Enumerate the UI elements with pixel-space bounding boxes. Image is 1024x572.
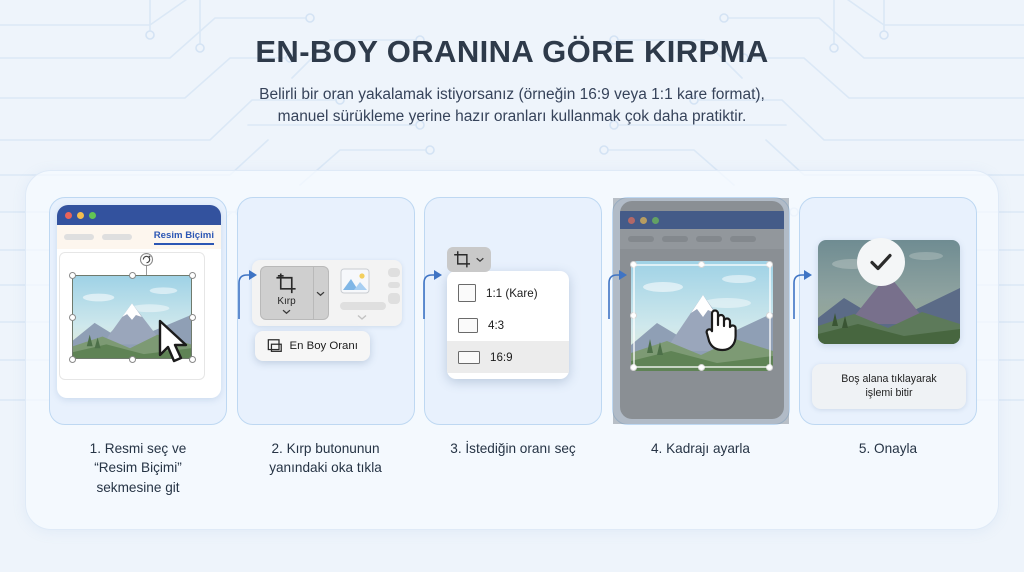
- crop-dropdown-arrow-button[interactable]: [314, 266, 329, 320]
- page-header: EN-BOY ORANINA GÖRE KIRPMA Belirli bir o…: [0, 0, 1024, 129]
- menu-item-ratio-16-9[interactable]: 16:9: [447, 341, 569, 373]
- page-title: EN-BOY ORANINA GÖRE KIRPMA: [0, 34, 1024, 70]
- steps-row: Resim Biçimi: [26, 171, 1000, 531]
- ratio-preview-icon: [458, 351, 480, 364]
- window-title-bar: [57, 205, 221, 225]
- step-1-caption: 1. Resmi seç ve “Resim Biçimi” sekmesine…: [90, 439, 187, 497]
- ratio-preview-icon: [458, 284, 476, 302]
- resize-handle-w[interactable]: [69, 314, 76, 321]
- aspect-ratio-icon: [267, 338, 283, 354]
- step-3-caption: 3. İstediğin oranı seç: [450, 439, 575, 458]
- crop-dropdown-toggle[interactable]: [447, 247, 491, 272]
- crop-icon: [453, 250, 472, 269]
- steps-panel: Resim Biçimi: [25, 170, 999, 530]
- aspect-ratio-tooltip[interactable]: En Boy Oranı: [255, 331, 370, 361]
- step-5: Boş alana tıklayarak işlemi bitir 5. Ona…: [799, 197, 977, 531]
- confirm-check-badge: [857, 238, 905, 286]
- ribbon-placeholder-bar: [340, 302, 386, 310]
- step-3-card: 1:1 (Kare) 4:3 16:9: [424, 197, 602, 425]
- ratio-preview-icon: [458, 318, 478, 333]
- ribbon-placeholder-right-3: [388, 293, 400, 304]
- maximize-window-dot[interactable]: [89, 212, 96, 219]
- menu-item-ratio-4-3[interactable]: 4:3: [447, 309, 569, 341]
- step-1-card: Resim Biçimi: [49, 197, 227, 425]
- tab-placeholder-2[interactable]: [102, 234, 132, 240]
- connector-arrow-3: [603, 267, 629, 319]
- rotate-handle-icon[interactable]: [139, 252, 154, 267]
- aspect-ratio-tooltip-label: En Boy Oranı: [290, 340, 358, 352]
- resize-handle-s[interactable]: [129, 356, 136, 363]
- page-subtitle-line-1: Belirli bir oran yakalamak istiyorsanız …: [0, 84, 1024, 106]
- tab-placeholder-1[interactable]: [64, 234, 94, 240]
- maximize-window-dot[interactable]: [652, 217, 659, 224]
- minimize-window-dot[interactable]: [640, 217, 647, 224]
- chevron-down-icon: [475, 256, 485, 263]
- resize-handle-nw[interactable]: [69, 272, 76, 279]
- toolbar-placeholder-2[interactable]: [662, 236, 688, 242]
- tab-resim-bicimi[interactable]: Resim Biçimi: [154, 230, 214, 245]
- resize-handle-n[interactable]: [129, 272, 136, 279]
- step-5-card: Boş alana tıklayarak işlemi bitir: [799, 197, 977, 425]
- hand-pointer-cursor: [699, 305, 737, 353]
- connector-arrow-1: [233, 267, 259, 319]
- step-2-card: Kırp En Boy Oranı: [237, 197, 415, 425]
- resize-handle-ne[interactable]: [189, 272, 196, 279]
- toolbar-placeholder-1[interactable]: [628, 236, 654, 242]
- chevron-down-icon: [315, 290, 326, 297]
- step-3: 1:1 (Kare) 4:3 16:9 3. İstediğin oranı s…: [424, 197, 602, 531]
- crop-icon: [275, 272, 298, 295]
- window-ribbon-tabs: Resim Biçimi: [57, 225, 221, 249]
- picture-insert-icon[interactable]: [340, 268, 370, 294]
- ribbon-chevron-icon: [356, 313, 368, 321]
- step-1: Resim Biçimi: [49, 197, 227, 531]
- toolbar-placeholder-4[interactable]: [730, 236, 756, 242]
- close-window-dot[interactable]: [628, 217, 635, 224]
- page-subtitle-line-2: manuel sürükleme yerine hazır oranları k…: [0, 106, 1024, 128]
- ribbon-placeholder-right-2: [388, 282, 400, 288]
- window-toolbar: [620, 229, 784, 249]
- ribbon-placeholder-right-1: [388, 268, 400, 277]
- crop-button[interactable]: Kırp: [260, 266, 314, 320]
- window-title-bar: [620, 211, 784, 229]
- minimize-window-dot[interactable]: [77, 212, 84, 219]
- crop-button-chevron-down-icon[interactable]: [281, 308, 292, 315]
- menu-item-label: 16:9: [490, 351, 513, 364]
- step-4-card: [612, 197, 790, 425]
- menu-item-label: 1:1 (Kare): [486, 287, 538, 300]
- toolbar-placeholder-3[interactable]: [696, 236, 722, 242]
- page-subtitle: Belirli bir oran yakalamak istiyorsanız …: [0, 84, 1024, 129]
- step-2: Kırp En Boy Oranı: [237, 197, 415, 531]
- step-5-caption: 5. Onayla: [859, 439, 917, 458]
- confirm-note: Boş alana tıklayarak işlemi bitir: [812, 364, 966, 409]
- aspect-ratio-menu[interactable]: 1:1 (Kare) 4:3 16:9: [447, 271, 569, 379]
- close-window-dot[interactable]: [65, 212, 72, 219]
- step-4: 4. Kadrajı ayarla: [612, 197, 790, 531]
- resize-handle-sw[interactable]: [69, 356, 76, 363]
- connector-arrow-2: [418, 267, 444, 319]
- crop-button-label: Kırp: [277, 296, 295, 307]
- menu-item-label: 4:3: [488, 319, 504, 332]
- step-2-caption: 2. Kırp butonunun yanındaki oka tıkla: [269, 439, 382, 478]
- menu-item-ratio-1-1[interactable]: 1:1 (Kare): [447, 277, 569, 309]
- check-mark-icon: [868, 249, 894, 275]
- step-4-caption: 4. Kadrajı ayarla: [651, 439, 750, 458]
- mouse-arrow-cursor: [154, 318, 194, 368]
- connector-arrow-4: [788, 267, 814, 319]
